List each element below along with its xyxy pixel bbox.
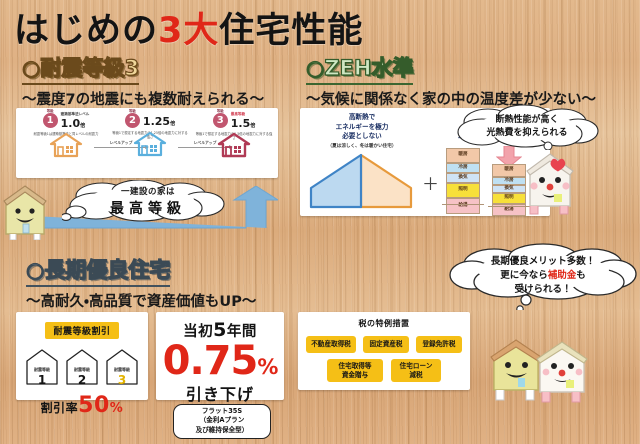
discount-house-row: 耐震等級 1 耐震等級 2 耐震等級 3 <box>16 348 148 386</box>
headline-post: 住宅性能 <box>219 11 363 51</box>
house-mascot-icon-left <box>2 184 48 240</box>
energy-bar-before-2: 換気 <box>446 173 480 183</box>
grade-value-unit-3: 倍 <box>250 123 255 129</box>
grade-value-unit-1: 倍 <box>80 123 85 129</box>
section-heading-zeh: ○ZEH水準 〜気候に関係なく家の中の温度差が少ない〜 <box>306 52 596 109</box>
grade-badge-num-3: 3 <box>217 115 224 126</box>
grade-value-2: 1.25倍 <box>143 116 175 127</box>
tax-tag-row-2: 住宅取得等 資金贈与 住宅ローン 減税 <box>298 359 470 382</box>
tax-tag-1: 固定資産税 <box>363 336 409 353</box>
grade-column-3: 等級 3 最高等級 1.5倍 等級1で想定する地震力の1.5 <box>190 113 278 140</box>
grade-value-num-3: 1.5 <box>231 117 251 130</box>
grade-value-3: 1.5倍 <box>231 118 256 129</box>
discount-house-3: 耐震等級 3 <box>105 348 139 386</box>
flat35s-line3: 及び維持保全型） <box>174 426 270 435</box>
headline-pre: はじめの <box>14 11 158 51</box>
section-heading-longlife: ○長期優良住宅 〜高耐久・高品質で資産価値もUP〜 <box>26 254 256 311</box>
zeh-left-text: 高断熱で エネルギーを極力 必要としない （夏は涼しく、冬は暖かい住宅） <box>304 113 420 149</box>
grade-badge-num-2: 2 <box>129 115 136 126</box>
grade-badge-tiny-3: 等級 <box>213 108 228 113</box>
grade-value-num-1: 1.0 <box>61 117 81 130</box>
rate-value: 0.75 <box>163 338 258 384</box>
zeh-left-line3: 必要としない <box>304 132 420 142</box>
grade-badge-tiny-1: 等級 <box>43 108 58 113</box>
grade-value-1: 1.0倍 <box>61 118 90 129</box>
discount-house-num-3: 3 <box>105 373 139 387</box>
zeh-left-note: （夏は涼しく、冬は暖かい住宅） <box>304 143 420 149</box>
grade-value-num-2: 1.25 <box>143 115 170 128</box>
zeh-left-line1: 高断熱で <box>304 113 420 123</box>
headline-number: 3 <box>158 11 183 51</box>
cloud-bubble-max-grade: 一建設の家は 最高等級 <box>62 180 234 222</box>
tax-tag-2: 登録免許税 <box>416 336 462 353</box>
discount-band-label: 耐震等級割引 <box>45 322 118 339</box>
discount-house-1: 耐震等級 1 <box>25 348 59 386</box>
longlife-title: ○長期優良住宅 <box>26 254 170 287</box>
flat35s-line1: フラット35S <box>174 407 270 416</box>
grade-value-unit-2: 倍 <box>170 121 175 127</box>
longlife-subtitle: 〜高耐久・高品質で資産価値もUP〜 <box>26 290 256 311</box>
discount-house-2: 耐震等級 2 <box>65 348 99 386</box>
two-tone-house-icon <box>308 152 414 214</box>
rate-footer: 引き下げ <box>156 381 284 405</box>
flat35s-line2: （金利Aプラン <box>174 416 270 425</box>
grade-badge-3: 等級 3 <box>213 113 228 128</box>
rate-value-row: 0.75% <box>156 343 284 380</box>
grade-badge-1: 等級 1 <box>43 113 58 128</box>
house-mascot-pair-icon <box>486 330 598 406</box>
tax-card-title: 税の特例措置 <box>298 318 470 329</box>
grade-column-1: 等級 1 建築基準法レベル 1.0倍 耐震等級1は建築基準法 <box>22 113 110 136</box>
grade-badge-num-1: 1 <box>47 115 54 126</box>
seismic-subtitle: 〜震度7の地震にも複数耐えられる〜 <box>22 88 264 109</box>
energy-bar-before-3: 照明 <box>446 183 480 198</box>
zeh-left-line2: エネルギーを極力 <box>304 123 420 133</box>
headline-red-word: 大 <box>183 11 219 51</box>
seismic-grades-card: 等級 1 建築基準法レベル 1.0倍 耐震等級1は建築基準法 <box>16 108 278 178</box>
grade-column-2: 等級 2 1.25倍 等級1で想定する地震力の1.25倍の <box>106 113 194 139</box>
tax-tag-0: 不動産取得税 <box>306 336 356 353</box>
tax-tag-3: 住宅取得等 資金贈与 <box>327 359 383 382</box>
seismic-title: ○耐震等級3 <box>22 52 139 85</box>
energy-bar-before-4: 給湯 <box>446 198 480 214</box>
cloud-bubble-insulation: 断熱性能が高く 光熱費を抑えられる <box>452 104 602 150</box>
discount-rate-label: 割引率 <box>41 401 79 415</box>
grade-badge-2: 等級 2 <box>125 113 140 128</box>
plus-symbol: ＋ <box>422 170 439 195</box>
discount-rate-row: 割引率50% <box>16 393 148 418</box>
rate-value-unit: % <box>257 355 277 379</box>
seismic-discount-card: 耐震等級割引 耐震等級 1 耐震等級 2 耐震等級 <box>16 312 148 400</box>
section-heading-seismic: ○耐震等級3 〜震度7の地震にも複数耐えられる〜 <box>22 52 264 109</box>
zeh-title: ○ZEH水準 <box>306 52 413 85</box>
tax-tag-row-1: 不動産取得税 固定資産税 登録免許税 <box>298 336 470 353</box>
energy-bar-before-1: 冷房 <box>446 163 480 173</box>
page-title: はじめの3大住宅性能 <box>14 2 363 53</box>
energy-stack-before-base <box>442 204 484 205</box>
poster-root: はじめの3大住宅性能 ○耐震等級3 〜震度7の地震にも複数耐えられる〜 ○ZEH… <box>0 0 640 444</box>
flat35s-pill: フラット35S （金利Aプラン 及び維持保全型） <box>173 404 271 439</box>
energy-bar-before-0: 暖房 <box>446 148 480 163</box>
discount-house-num-2: 2 <box>65 373 99 387</box>
tax-benefits-card: 税の特例措置 不動産取得税 固定資産税 登録免許税 住宅取得等 資金贈与 住宅ロ… <box>298 312 470 390</box>
house-mascot-icon-zeh <box>520 150 580 218</box>
discount-house-num-1: 1 <box>25 373 59 387</box>
cloud-bubble-benefits: 長期優良メリット多数！ 更に今なら補助金も 受けられる！ <box>448 242 638 310</box>
tax-tag-4: 住宅ローン 減税 <box>391 359 441 382</box>
discount-rate-value: 50 <box>78 393 110 418</box>
discount-rate-unit: % <box>110 401 124 416</box>
interest-rate-card: 当初5年間 0.75% 引き下げ <box>156 312 284 400</box>
discount-band-wrap: 耐震等級割引 <box>16 319 148 339</box>
